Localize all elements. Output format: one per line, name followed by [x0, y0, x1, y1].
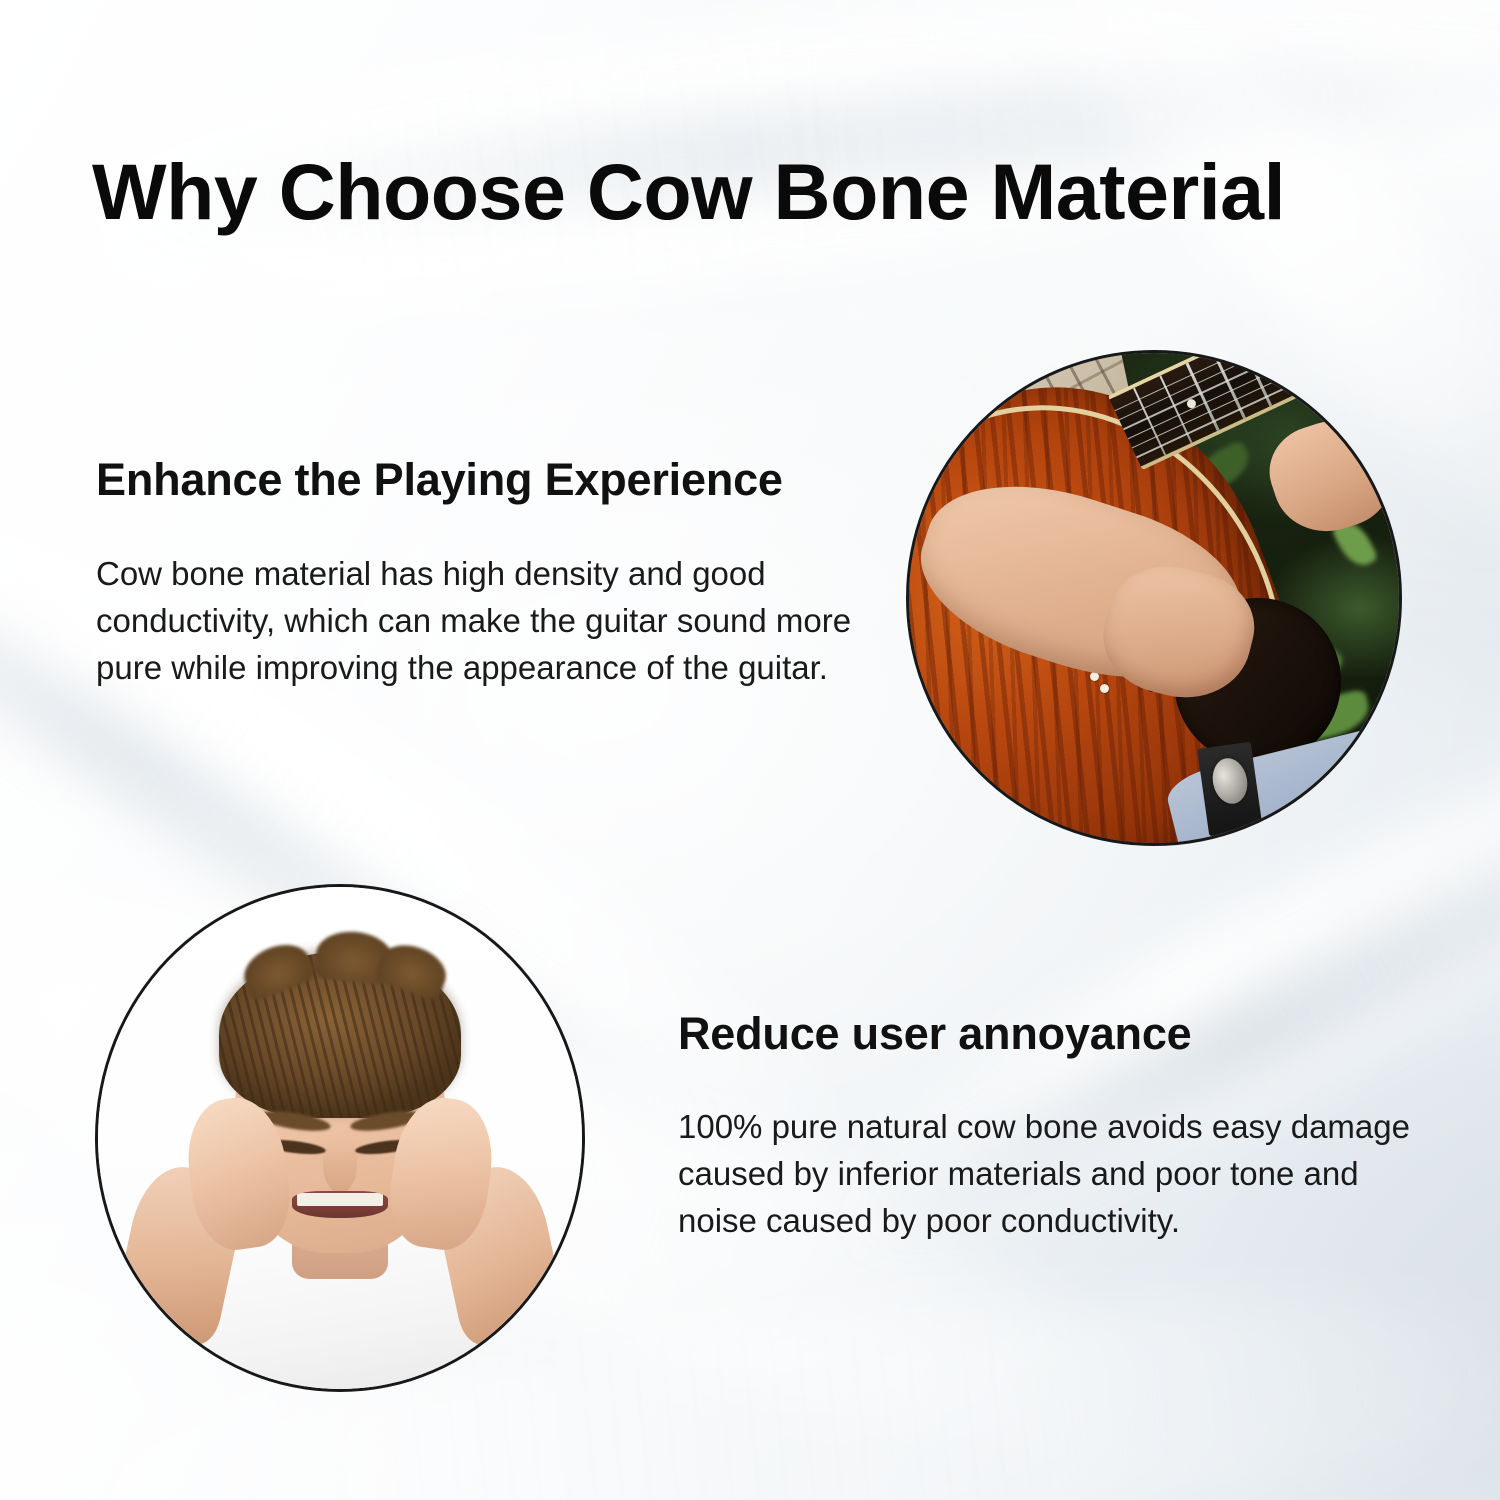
- annoyed-man-photo: [95, 884, 585, 1392]
- bridge-pin: [1100, 684, 1109, 693]
- grimacing-mouth: [292, 1191, 389, 1219]
- guitar-player-photo: [906, 350, 1402, 846]
- section-heading-reduce-user-annoyance: Reduce user annoyance: [678, 1010, 1192, 1057]
- teeth: [297, 1193, 382, 1206]
- section-body-reduce-user-annoyance: 100% pure natural cow bone avoids easy d…: [678, 1104, 1430, 1245]
- page-title: Why Choose Cow Bone Material: [92, 152, 1285, 231]
- annoyed-man-photo-content: [98, 887, 582, 1389]
- product-feature-infographic: Why Choose Cow Bone Material Enhance the…: [0, 0, 1500, 1500]
- section-body-enhance-playing-experience: Cow bone material has high density and g…: [96, 551, 856, 692]
- section-heading-enhance-playing-experience: Enhance the Playing Experience: [96, 456, 783, 503]
- fret-wire: [1317, 353, 1350, 369]
- guitar-photo-content: [909, 353, 1399, 843]
- nose: [323, 1138, 357, 1193]
